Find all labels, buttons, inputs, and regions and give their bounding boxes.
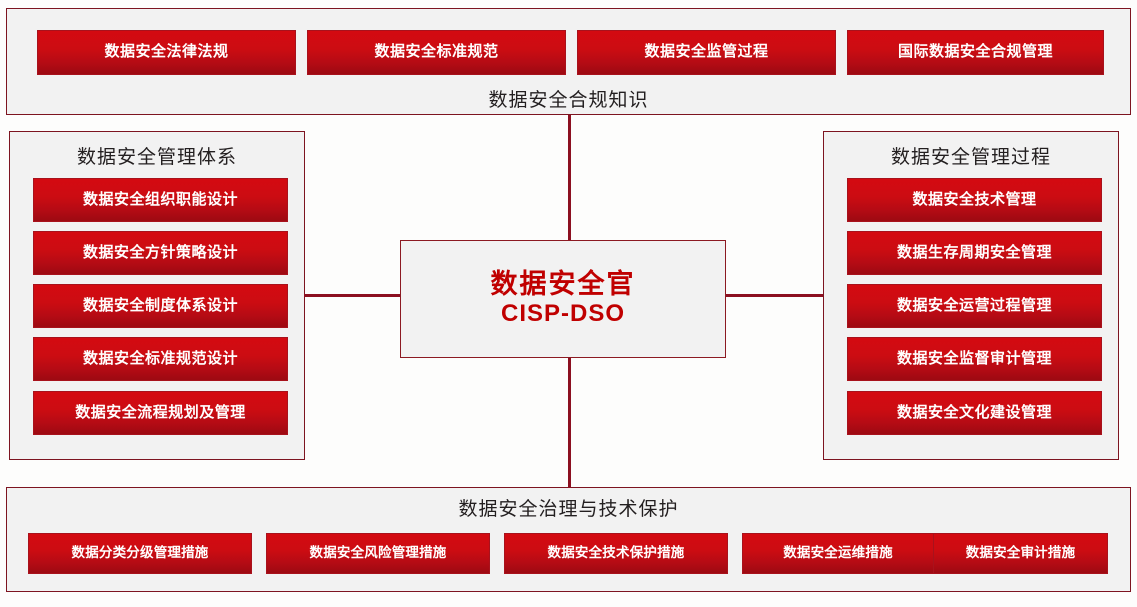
left-panel-title: 数据安全管理体系 [9, 142, 305, 169]
bottom-item-3[interactable]: 数据安全运维措施 [742, 533, 934, 574]
bottom-item-2[interactable]: 数据安全技术保护措施 [504, 533, 728, 574]
right-item-2[interactable]: 数据安全运营过程管理 [847, 284, 1102, 328]
bottom-panel-title: 数据安全治理与技术保护 [6, 494, 1131, 521]
diagram-canvas: 数据安全法律法规 数据安全标准规范 数据安全监管过程 国际数据安全合规管理 数据… [0, 0, 1137, 607]
right-panel-title: 数据安全管理过程 [823, 142, 1119, 169]
center-node-title-en: CISP-DSO [501, 300, 625, 329]
left-item-0[interactable]: 数据安全组织职能设计 [33, 178, 288, 222]
top-panel-title: 数据安全合规知识 [6, 85, 1131, 112]
bottom-item-1[interactable]: 数据安全风险管理措施 [266, 533, 490, 574]
connector-top-vertical [568, 115, 571, 242]
top-item-3[interactable]: 国际数据安全合规管理 [847, 30, 1104, 75]
top-item-1[interactable]: 数据安全标准规范 [307, 30, 566, 75]
top-item-0[interactable]: 数据安全法律法规 [37, 30, 296, 75]
center-node-title-cn: 数据安全官 [491, 269, 636, 300]
top-item-2[interactable]: 数据安全监管过程 [577, 30, 836, 75]
connector-right-horizontal [724, 294, 823, 297]
connector-bottom-vertical [568, 357, 571, 488]
right-item-4[interactable]: 数据安全文化建设管理 [847, 391, 1102, 435]
right-item-0[interactable]: 数据安全技术管理 [847, 178, 1102, 222]
right-item-1[interactable]: 数据生存周期安全管理 [847, 231, 1102, 275]
center-node-cisp-dso[interactable]: 数据安全官 CISP-DSO [400, 240, 726, 358]
bottom-item-4[interactable]: 数据安全审计措施 [933, 533, 1108, 574]
left-item-4[interactable]: 数据安全流程规划及管理 [33, 391, 288, 435]
left-item-1[interactable]: 数据安全方针策略设计 [33, 231, 288, 275]
connector-left-horizontal [304, 294, 402, 297]
bottom-item-0[interactable]: 数据分类分级管理措施 [28, 533, 252, 574]
left-item-2[interactable]: 数据安全制度体系设计 [33, 284, 288, 328]
left-item-3[interactable]: 数据安全标准规范设计 [33, 337, 288, 381]
right-item-3[interactable]: 数据安全监督审计管理 [847, 337, 1102, 381]
